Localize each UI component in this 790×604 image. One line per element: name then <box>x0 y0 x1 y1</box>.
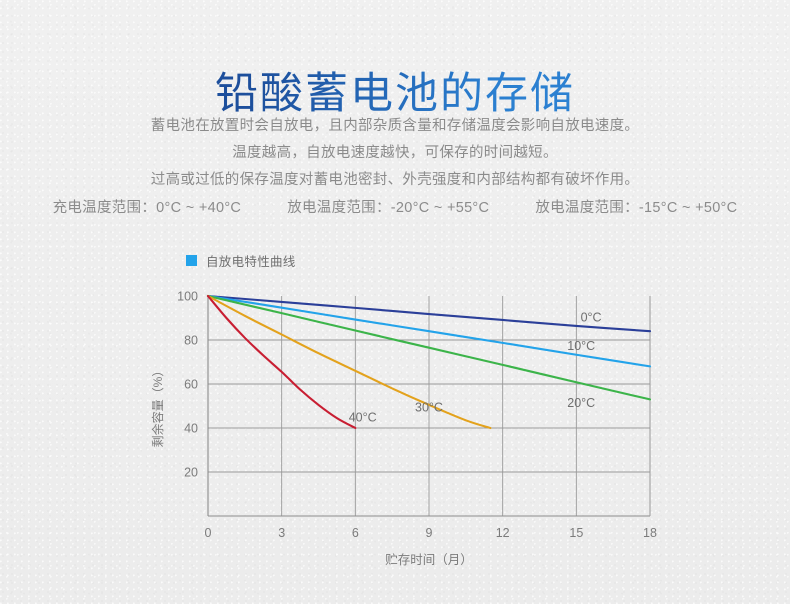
description-block: 蓄电池在放置时会自放电，且内部杂质含量和存储温度会影响自放电速度。 温度越高，自… <box>0 113 790 194</box>
x-tick-label: 18 <box>643 526 657 540</box>
page-root: 铅酸蓄电池的存储 蓄电池在放置时会自放电，且内部杂质含量和存储温度会影响自放电速… <box>0 0 790 604</box>
legend-swatch-icon <box>186 255 197 266</box>
y-tick-label: 80 <box>184 334 198 348</box>
x-tick-label: 15 <box>569 526 583 540</box>
y-tick-label: 20 <box>184 466 198 480</box>
chart-legend: 自放电特性曲线 <box>186 251 296 270</box>
y-tick-label: 100 <box>177 290 198 304</box>
series-annotation-40C: 40°C <box>349 410 377 424</box>
legend-label: 自放电特性曲线 <box>206 251 296 270</box>
x-tick-label: 9 <box>426 526 433 540</box>
chart-svg: 204060801000369121518贮存时间（月）剩余容量（%）0°C10… <box>140 278 670 568</box>
discharge-temperature-range-2: 放电温度范围：-15°C ~ +50°C <box>512 197 760 219</box>
y-tick-label: 60 <box>184 378 198 392</box>
series-annotation-20C: 20°C <box>567 396 595 410</box>
x-axis-label: 贮存时间（月） <box>385 552 473 567</box>
x-tick-label: 3 <box>278 526 285 540</box>
charge-temperature-range: 充电温度范围：0°C ~ +40°C <box>30 197 265 219</box>
temperature-ranges: 充电温度范围：0°C ~ +40°C 放电温度范围：-20°C ~ +55°C … <box>0 197 790 219</box>
description-line-2: 温度越高，自放电速度越快，可保存的时间越短。 <box>0 140 790 167</box>
series-annotation-0C: 0°C <box>581 310 602 324</box>
discharge-temperature-range-1: 放电温度范围：-20°C ~ +55°C <box>264 197 512 219</box>
x-tick-label: 0 <box>205 526 212 540</box>
self-discharge-chart: 204060801000369121518贮存时间（月）剩余容量（%）0°C10… <box>140 278 670 568</box>
series-annotation-10C: 10°C <box>567 339 595 353</box>
y-tick-label: 40 <box>184 422 198 436</box>
y-axis-label: 剩余容量（%） <box>150 365 165 448</box>
description-line-3: 过高或过低的保存温度对蓄电池密封、外壳强度和内部结构都有破坏作用。 <box>0 167 790 194</box>
x-tick-label: 12 <box>496 526 510 540</box>
series-annotation-30C: 30°C <box>415 401 443 415</box>
x-tick-label: 6 <box>352 526 359 540</box>
description-line-1: 蓄电池在放置时会自放电，且内部杂质含量和存储温度会影响自放电速度。 <box>0 113 790 140</box>
